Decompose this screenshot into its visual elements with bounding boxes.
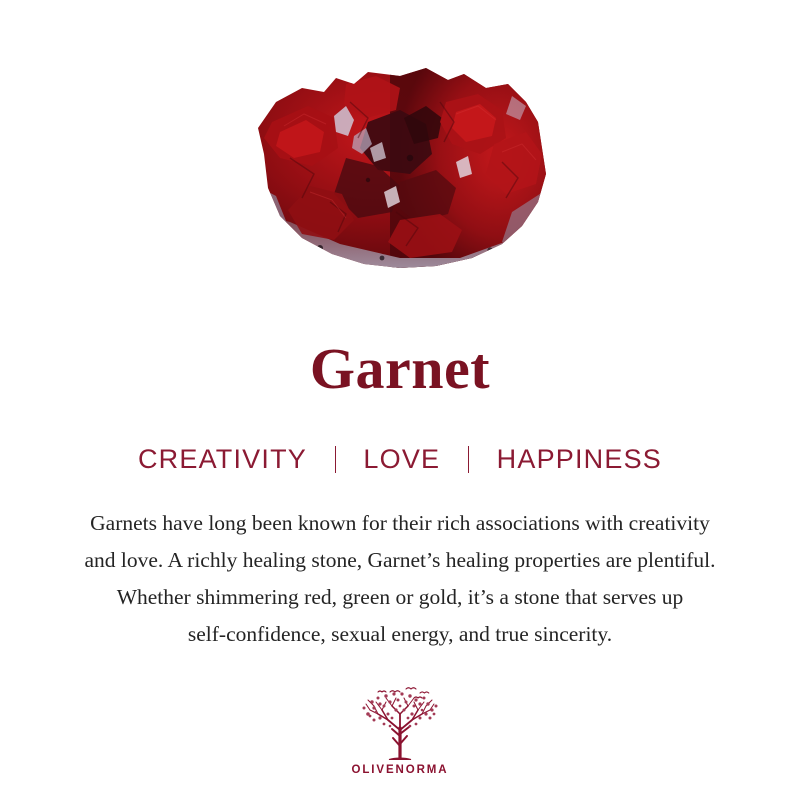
brand-logo: OLIVENORMA	[0, 684, 800, 776]
tree-of-life-icon	[354, 684, 446, 762]
keyword-separator-1	[335, 446, 336, 473]
keyword-creativity: CREATIVITY	[138, 446, 307, 473]
description-line-2: and love. A richly healing stone, Garnet…	[18, 542, 782, 579]
description-line-1: Garnets have long been known for their r…	[18, 505, 782, 542]
brand-wordmark: OLIVENORMA	[352, 764, 449, 776]
garnet-crystal-cluster-icon	[250, 62, 550, 270]
keyword-separator-2	[468, 446, 469, 473]
keyword-list: CREATIVITY LOVE HAPPINESS	[0, 446, 800, 473]
page-title: Garnet	[0, 340, 800, 398]
keyword-happiness: HAPPINESS	[497, 446, 662, 473]
description-line-4: self-confidence, sexual energy, and true…	[18, 616, 782, 653]
gemstone-info-card: Garnet CREATIVITY LOVE HAPPINESS Garnets…	[0, 0, 800, 800]
keyword-love: LOVE	[363, 446, 440, 473]
description-line-3: Whether shimmering red, green or gold, i…	[18, 579, 782, 616]
description-paragraph: Garnets have long been known for their r…	[18, 505, 782, 653]
garnet-stone-image	[250, 62, 550, 270]
